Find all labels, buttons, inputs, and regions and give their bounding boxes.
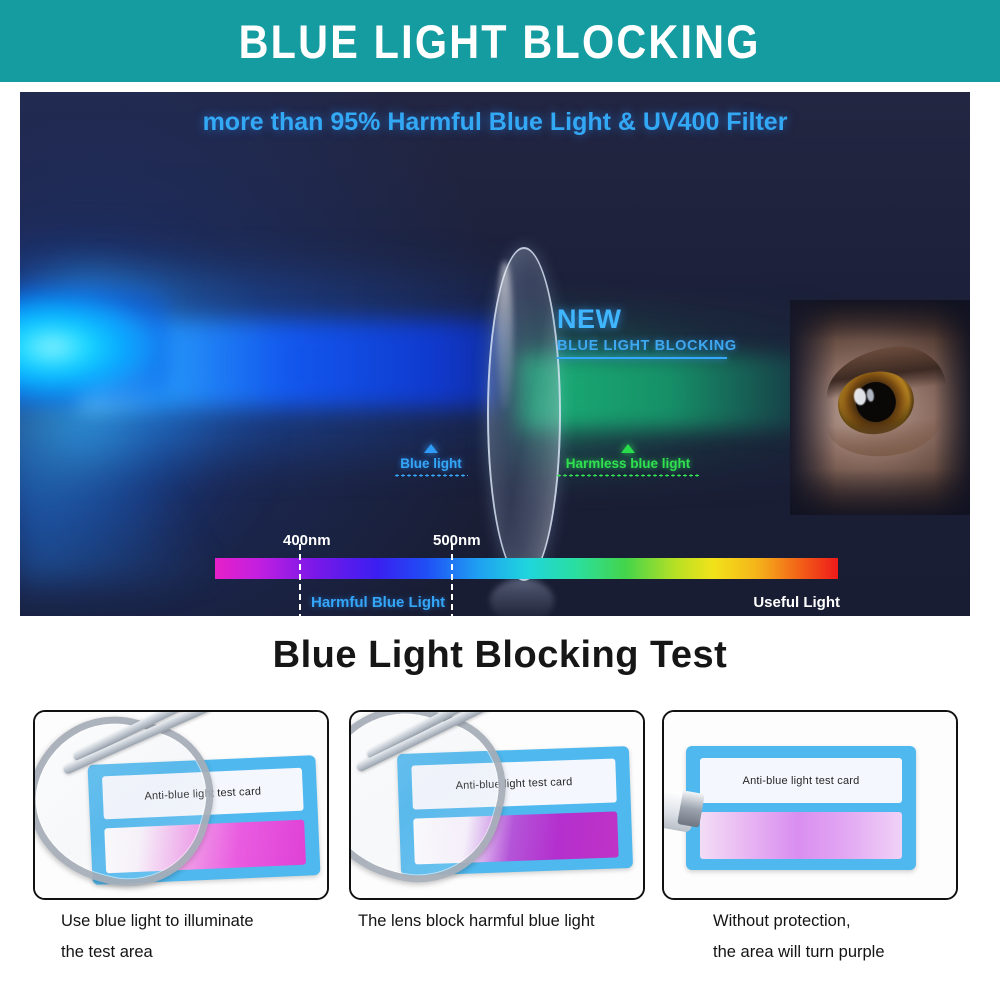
card-label-text-1: Anti-blue light test card: [144, 785, 261, 802]
test-card-photo-2: Anti-blue light test card: [349, 710, 645, 900]
new-badge-subtitle: BLUE LIGHT BLOCKING: [557, 338, 737, 354]
caption-2: The lens block harmful blue light: [358, 906, 658, 937]
caption-2-line-1: The lens block harmful blue light: [358, 906, 658, 937]
caption-3: Without protection, the area will turn p…: [713, 906, 993, 968]
triangle-up-icon: [424, 444, 438, 453]
test-card-gallery: Anti-blue light test card Anti-blue ligh…: [0, 710, 1000, 910]
blue-light-tag-label: Blue light: [394, 456, 468, 471]
card-label-area-3: Anti-blue light test card: [700, 758, 902, 803]
blue-light-tag-dots: [394, 474, 468, 477]
spectrum-tick-label-500: 500nm: [433, 532, 481, 549]
test-strip-1: [104, 819, 306, 873]
test-strip-2: [413, 811, 619, 864]
blue-light-tag: Blue light: [394, 444, 468, 477]
test-card-photo-3: Anti-blue light test card: [662, 710, 958, 900]
eye-shadow-bottom: [790, 469, 970, 515]
flashlight-head: [677, 790, 705, 827]
card-label-text-2: Anti-blue light test card: [455, 776, 572, 792]
hero-headline: more than 95% Harmful Blue Light & UV400…: [20, 108, 970, 137]
header-title: BLUE LIGHT BLOCKING: [239, 14, 761, 69]
glasses-temple-1a: [72, 712, 238, 762]
caption-1-line-1: Use blue light to illuminate: [61, 906, 341, 937]
harmless-light-tag: Harmless blue light: [556, 444, 700, 477]
anti-blue-light-card-2: Anti-blue light test card: [397, 746, 633, 876]
card-label-text-3: Anti-blue light test card: [743, 775, 860, 787]
lens-highlight: [497, 261, 513, 411]
caption-1: Use blue light to illuminate the test ar…: [61, 906, 341, 968]
section-title: Blue Light Blocking Test: [0, 634, 1000, 677]
spectrum-bar: [215, 558, 838, 579]
blue-light-source-icon: [20, 287, 170, 407]
spectrum-harmful-label: Harmful Blue Light: [311, 594, 445, 611]
photo-3: Anti-blue light test card: [664, 712, 956, 898]
photo-1: Anti-blue light test card: [35, 712, 327, 898]
caption-3-line-2: the area will turn purple: [713, 937, 993, 968]
new-badge-underline: [557, 357, 727, 359]
card-label-area-1: Anti-blue light test card: [102, 768, 304, 820]
spectrum-useful-label: Useful Light: [753, 594, 840, 611]
spectrum-tick-500: [451, 544, 453, 616]
hero-illustration-panel: more than 95% Harmful Blue Light & UV400…: [20, 92, 970, 616]
photo-2: Anti-blue light test card: [351, 712, 643, 898]
blue-light-flare-lower: [20, 432, 230, 582]
anti-blue-light-card-3: Anti-blue light test card: [686, 746, 916, 870]
spectrum-tick-label-400: 400nm: [283, 532, 331, 549]
test-strip-3: [700, 812, 902, 859]
anti-blue-light-card-1: Anti-blue light test card: [87, 755, 320, 885]
test-card-photo-1: Anti-blue light test card: [33, 710, 329, 900]
header-banner: BLUE LIGHT BLOCKING: [0, 0, 1000, 82]
human-eye-photo: [790, 300, 970, 515]
triangle-up-icon: [621, 444, 635, 453]
spectrum-tick-400: [299, 544, 301, 616]
caption-1-line-2: the test area: [61, 937, 341, 968]
product-infographic: BLUE LIGHT BLOCKING: [0, 0, 1000, 1000]
harmless-light-tag-dots: [556, 474, 700, 477]
caption-3-line-1: Without protection,: [713, 906, 993, 937]
lens-reflection: [490, 579, 554, 616]
new-badge: NEW BLUE LIGHT BLOCKING: [557, 304, 737, 359]
flashlight-icon: [664, 782, 720, 834]
caption-row: Use blue light to illuminate the test ar…: [0, 906, 1000, 996]
harmless-light-tag-label: Harmless blue light: [556, 456, 700, 471]
eyeglass-lens: [487, 247, 561, 581]
card-label-area-2: Anti-blue light test card: [411, 759, 617, 810]
new-badge-title: NEW: [557, 304, 737, 335]
